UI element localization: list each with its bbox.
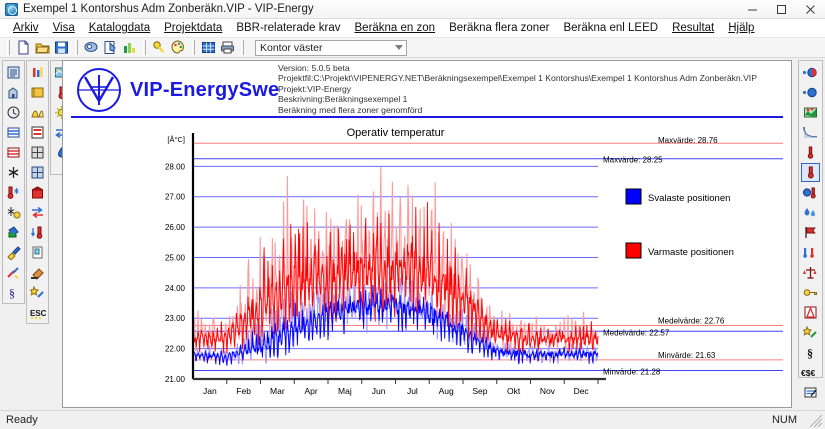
svg-text:§: § xyxy=(9,286,15,300)
status-bar: Ready NUM xyxy=(0,410,825,429)
x-tick-label: Apr xyxy=(305,386,318,396)
meta-version: Version: 5.0.5 beta xyxy=(278,63,757,73)
bucket-paint-icon[interactable] xyxy=(4,223,23,242)
clock-icon[interactable] xyxy=(4,103,23,122)
reference-line-label: Minvärde: 21.28 xyxy=(603,367,661,376)
edit-page-icon[interactable] xyxy=(102,39,119,56)
thermometer-boxed-icon[interactable] xyxy=(801,163,820,182)
app-icon xyxy=(5,3,18,16)
esc-icon[interactable]: ESC xyxy=(28,303,47,322)
x-tick-label: Aug xyxy=(439,386,454,396)
svg-text:ESC: ESC xyxy=(30,309,46,318)
reference-line-label: Medelvärde: 22.76 xyxy=(658,317,725,326)
temp-compare-icon[interactable] xyxy=(801,243,820,262)
palette-icon[interactable] xyxy=(170,39,187,56)
menu-arkiv[interactable]: Arkiv xyxy=(6,20,46,36)
snow-black-icon[interactable] xyxy=(4,163,23,182)
toolbar-grip-4 xyxy=(192,40,195,55)
reference-line-label: Minvärde: 21.63 xyxy=(658,351,716,360)
vip-logo: VIP-EnergySwe xyxy=(75,67,279,113)
flag-icon[interactable] xyxy=(801,223,820,242)
x-tick-label: Jan xyxy=(203,386,217,396)
meta-projektfil: Projektfil:C:\Projekt\VIPENERGY.NET\Berä… xyxy=(278,73,757,83)
thermo-globe-icon[interactable] xyxy=(801,183,820,202)
menu-berakna-flera-zoner[interactable]: Beräkna flera zoner xyxy=(442,20,556,36)
scales-icon[interactable] xyxy=(801,263,820,282)
report-document: VIP-EnergySwe Version: 5.0.5 beta Projek… xyxy=(62,60,792,408)
landscape-icon[interactable] xyxy=(801,103,820,122)
menu-arkiv-label: Arkiv xyxy=(13,22,39,34)
menu-hjalp[interactable]: Hjälp xyxy=(721,20,761,36)
window-title: Exempel 1 Kontorshus Adm Zonberäkn.VIP -… xyxy=(23,3,314,15)
y-tick-label: 25.00 xyxy=(165,253,186,262)
application-window: Exempel 1 Kontorshus Adm Zonberäkn.VIP -… xyxy=(0,0,825,429)
brush-yellow-icon[interactable] xyxy=(4,243,23,262)
x-tick-label: Sep xyxy=(472,386,487,396)
wave-yellow-icon[interactable] xyxy=(28,103,47,122)
y-tick-label: 22.00 xyxy=(165,345,186,354)
x-tick-label: Mar xyxy=(270,386,285,396)
menu-katalogdata[interactable]: Katalogdata xyxy=(82,20,157,36)
print-preview-icon[interactable] xyxy=(83,39,100,56)
left-palette-column-2: ESC xyxy=(26,60,49,324)
y-tick-label: 21.00 xyxy=(165,375,186,384)
minimize-icon[interactable] xyxy=(738,0,767,19)
menu-bbr-krav[interactable]: BBR-relaterade krav xyxy=(229,20,347,36)
left-palette-column-1: § xyxy=(2,60,25,304)
num-lock-indicator: NUM xyxy=(772,414,797,426)
thermo-bars-icon[interactable] xyxy=(28,63,47,82)
y-tick-label: 28.00 xyxy=(165,162,186,171)
meta-beskrivning: Beskrivning:Beräkningsexempel 1 xyxy=(278,94,757,104)
y-axis-unit-label: [Å°C] xyxy=(167,135,185,144)
paragraph-icon[interactable]: § xyxy=(801,343,820,362)
menu-berakna-leed-label: Beräkna enl LEED xyxy=(563,22,658,34)
workspace: § ESC xyxy=(0,58,825,410)
tools-icon[interactable] xyxy=(4,263,23,282)
menu-visa[interactable]: Visa xyxy=(46,20,82,36)
menu-resultat-label: Resultat xyxy=(672,22,714,34)
menu-projektdata-label: Projektdata xyxy=(164,22,222,34)
window-controls xyxy=(738,0,825,19)
y-tick-label: 23.00 xyxy=(165,314,186,323)
legend-swatch xyxy=(626,243,641,258)
title-bar: Exempel 1 Kontorshus Adm Zonberäkn.VIP -… xyxy=(0,0,825,19)
open-folder-icon[interactable] xyxy=(34,39,51,56)
folder-yellow-icon[interactable] xyxy=(28,83,47,102)
droplets-icon[interactable] xyxy=(801,203,820,222)
eraser-icon[interactable] xyxy=(28,263,47,282)
key-yellow-icon[interactable] xyxy=(801,283,820,302)
star-tools2-icon[interactable] xyxy=(801,323,820,342)
x-tick-label: Okt xyxy=(507,386,521,396)
save-disk-icon[interactable] xyxy=(53,39,70,56)
chart-title: Operativ temperatur xyxy=(347,127,445,139)
maximize-icon[interactable] xyxy=(767,0,796,19)
menu-berakna-flera-zoner-label: Beräkna flera zoner xyxy=(449,22,549,34)
chevron-down-icon[interactable] xyxy=(395,45,403,50)
y-tick-label: 27.00 xyxy=(165,193,186,202)
close-icon[interactable] xyxy=(796,0,825,19)
thermo-snow-icon[interactable] xyxy=(4,183,23,202)
reference-line-label: Maxvärde: 28.76 xyxy=(658,136,718,145)
x-tick-label: Maj xyxy=(338,386,352,396)
signature-icon[interactable] xyxy=(801,383,820,402)
help-key-icon[interactable] xyxy=(151,39,168,56)
x-tick-label: Feb xyxy=(236,386,251,396)
x-tick-label: Dec xyxy=(574,386,590,396)
document-lines-icon[interactable] xyxy=(4,63,23,82)
curve-decay-icon[interactable] xyxy=(801,123,820,142)
menu-katalogdata-label: Katalogdata xyxy=(89,22,150,34)
svg-text:€$€: €$€ xyxy=(801,368,815,378)
toolbar-grip-5 xyxy=(241,40,244,55)
building-icon[interactable] xyxy=(4,83,23,102)
tower-icon[interactable] xyxy=(801,303,820,322)
app-logo-text: VIP-EnergySwe xyxy=(130,79,279,102)
menu-bar: Arkiv Visa Katalogdata Projektdata BBR-r… xyxy=(0,19,825,38)
x-tick-label: Nov xyxy=(540,386,556,396)
vip-logo-mark xyxy=(75,67,123,113)
document-blue-icon[interactable] xyxy=(28,243,47,262)
chart-green-icon[interactable] xyxy=(121,39,138,56)
report-meta: Version: 5.0.5 beta Projektfil:C:\Projek… xyxy=(278,63,757,115)
blue-grid-icon[interactable] xyxy=(4,123,23,142)
snow-yellow-icon[interactable] xyxy=(4,203,23,222)
red-grid-icon[interactable] xyxy=(4,143,23,162)
window-grid2-icon[interactable] xyxy=(28,163,47,182)
menu-berakna-leed[interactable]: Beräkna enl LEED xyxy=(556,20,665,36)
reference-line-label: Maxvärde: 28.25 xyxy=(603,156,663,165)
thermo-down-icon[interactable] xyxy=(28,223,47,242)
grid-table-icon[interactable] xyxy=(200,39,217,56)
window-grid-icon[interactable] xyxy=(28,143,47,162)
new-icon[interactable] xyxy=(15,39,32,56)
legend-swatch xyxy=(626,189,641,204)
y-tick-label: 24.00 xyxy=(165,284,186,293)
status-message: Ready xyxy=(0,414,38,426)
dot-circle-icon[interactable] xyxy=(801,63,820,82)
currency-icon[interactable]: €$€ xyxy=(801,363,820,382)
menu-hjalp-label: Hjälp xyxy=(728,22,754,34)
right-palette: § €$€ EXP xyxy=(798,60,823,378)
thermometer-small-icon[interactable] xyxy=(801,143,820,162)
y-tick-label: 26.00 xyxy=(165,223,186,232)
chart-canvas: Operativ temperatur[Å°C]21.0022.0023.002… xyxy=(63,121,792,408)
legend-label: Varmaste positionen xyxy=(648,247,734,258)
building-red-icon[interactable] xyxy=(28,183,47,202)
menu-projektdata[interactable]: Projektdata xyxy=(157,20,229,36)
meta-projekt: Projekt:VIP-Energy xyxy=(278,84,757,94)
report-red-icon[interactable] xyxy=(28,123,47,142)
x-tick-label: Jul xyxy=(407,386,418,396)
x-tick-label: Jun xyxy=(372,386,386,396)
toolbar-grip[interactable] xyxy=(7,40,10,55)
operativ-temperatur-chart: Operativ temperatur[Å°C]21.0022.0023.002… xyxy=(63,121,791,407)
zone-select[interactable]: Kontor väster xyxy=(255,40,407,56)
menu-visa-label: Visa xyxy=(53,22,75,34)
menu-bbr-krav-label: BBR-relaterade krav xyxy=(236,22,340,34)
report-header: VIP-EnergySwe Version: 5.0.5 beta Projek… xyxy=(63,61,791,118)
toolbar-grip-3 xyxy=(143,40,146,55)
toolbar-grip-2 xyxy=(75,40,78,55)
svg-text:§: § xyxy=(807,346,813,360)
reference-line-label: Medelvärde: 22.57 xyxy=(603,328,670,337)
zone-select-value: Kontor väster xyxy=(260,42,322,54)
menu-berakna-en-zon[interactable]: Beräkna en zon xyxy=(348,20,443,36)
main-toolbar: Kontor väster xyxy=(0,38,825,58)
printer-icon[interactable] xyxy=(219,39,236,56)
resize-grip-icon[interactable] xyxy=(809,414,823,428)
paragraph-s-icon[interactable]: § xyxy=(4,283,23,302)
menu-resultat[interactable]: Resultat xyxy=(665,20,721,36)
arrows-blue-icon[interactable] xyxy=(28,203,47,222)
header-divider xyxy=(71,116,783,118)
meta-status: Beräkning med flera zoner genomförd xyxy=(278,105,757,115)
menu-berakna-en-zon-label: Beräkna en zon xyxy=(355,22,436,34)
legend-label: Svalaste positionen xyxy=(648,193,730,204)
dot-circle2-icon[interactable] xyxy=(801,83,820,102)
star-tools-icon[interactable] xyxy=(28,283,47,302)
